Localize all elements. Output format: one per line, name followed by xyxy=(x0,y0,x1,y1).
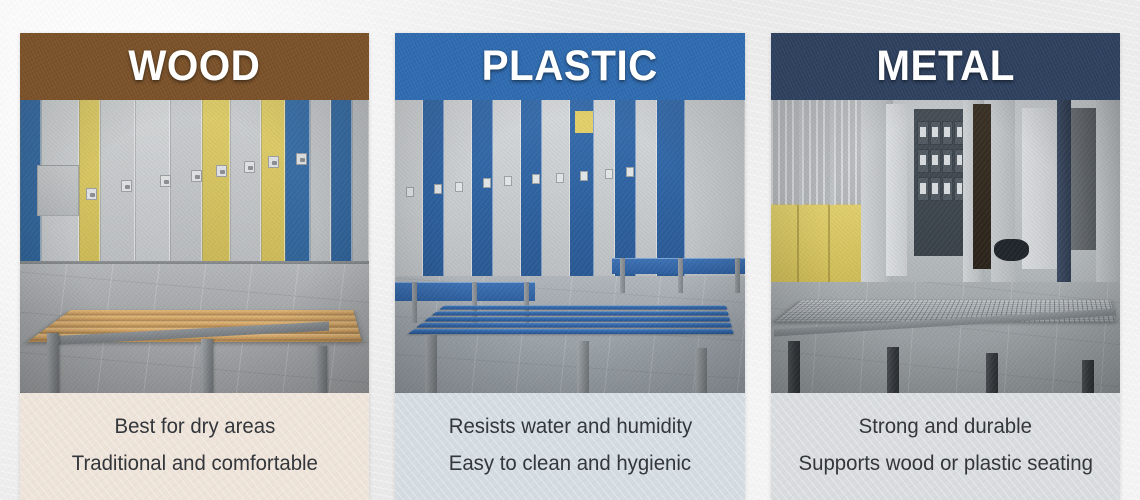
bench-wood xyxy=(27,241,362,393)
panel-metal[interactable]: METAL xyxy=(771,33,1120,500)
bench-plastic xyxy=(406,247,734,394)
caption-line: Supports wood or plastic seating xyxy=(798,453,1092,474)
panel-header-wood: WOOD xyxy=(20,33,369,100)
material-comparison-panels: WOOD xyxy=(0,0,1140,500)
panel-title-wood: WOOD xyxy=(129,45,261,88)
panel-photo-plastic xyxy=(395,100,744,393)
panel-caption-plastic: Resists water and humidity Easy to clean… xyxy=(395,393,744,500)
panel-title-plastic: PLASTIC xyxy=(482,45,658,88)
caption-line: Traditional and comfortable xyxy=(72,453,318,474)
panel-wood[interactable]: WOOD xyxy=(20,33,369,500)
panel-title-metal: METAL xyxy=(876,45,1015,88)
yellow-tag xyxy=(575,111,593,133)
panel-caption-metal: Strong and durable Supports wood or plas… xyxy=(771,393,1120,500)
panel-photo-wood xyxy=(20,100,369,393)
panel-photo-metal xyxy=(771,100,1120,393)
caption-line: Best for dry areas xyxy=(114,416,275,437)
panel-header-metal: METAL xyxy=(771,33,1120,100)
panel-plastic[interactable]: PLASTIC xyxy=(395,33,744,500)
caption-line: Easy to clean and hygienic xyxy=(449,453,691,474)
caption-line: Resists water and humidity xyxy=(448,416,691,437)
panel-caption-wood: Best for dry areas Traditional and comfo… xyxy=(20,393,369,500)
bench-metal xyxy=(774,258,1116,393)
caption-line: Strong and durable xyxy=(859,416,1032,437)
dark-doorway xyxy=(973,104,990,269)
panel-header-plastic: PLASTIC xyxy=(395,33,744,100)
